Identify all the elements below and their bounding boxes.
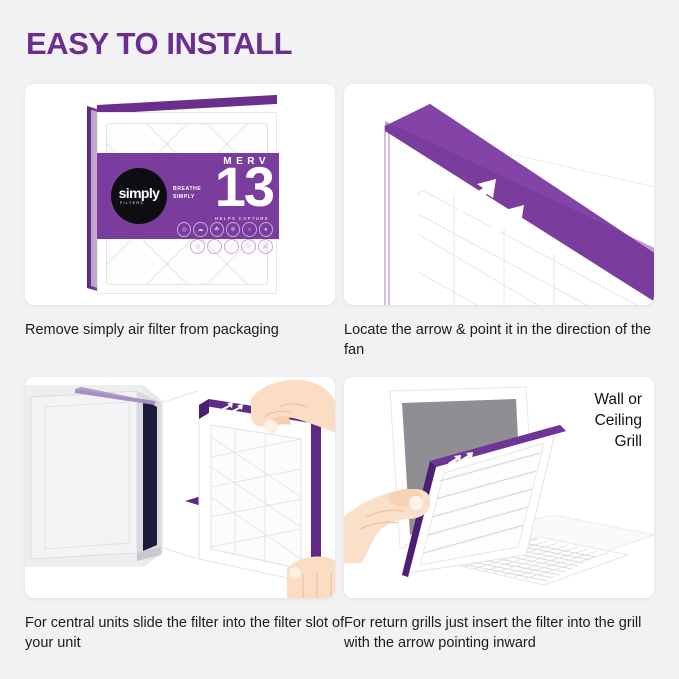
logo-subtext: FILTERS <box>120 201 144 205</box>
tagline-line-2: SIMPLY <box>173 194 201 202</box>
step-3-caption: For central units slide the filter into … <box>25 613 345 653</box>
package-front-face: simply FILTERS BREATHE SIMPLY MERV 13 HE… <box>97 112 277 294</box>
grill-label-line-2: Ceiling <box>594 410 642 431</box>
step-3-card <box>25 377 335 598</box>
smoke-icon: ☁ <box>193 222 207 237</box>
particle-icon: ▣ <box>258 239 273 254</box>
capture-icon-row-1: ◎ ☁ ☘ ❄ ☼ ● <box>177 222 273 237</box>
lint-icon: ♢ <box>207 239 222 254</box>
filter-package-illustration: simply FILTERS BREATHE SIMPLY MERV 13 HE… <box>87 106 277 296</box>
pollen-icon: ❄ <box>226 222 240 237</box>
dust-icon: ◍ <box>190 239 205 254</box>
helps-capture-label: HELPS CAPTURE <box>215 216 269 221</box>
mold-icon: ● <box>259 222 273 237</box>
allergen-icon: ⊘ <box>241 239 256 254</box>
grill-label-line-3: Grill <box>594 431 642 452</box>
pet-dander-icon: ☘ <box>210 222 224 237</box>
step-1-card: simply FILTERS BREATHE SIMPLY MERV 13 HE… <box>25 84 335 305</box>
page-title: EASY TO INSTALL <box>26 26 292 62</box>
step-2-card <box>344 84 654 305</box>
return-grill-illustration: Wall or Ceiling Grill <box>344 377 654 598</box>
filter-edge-illustration <box>344 84 654 305</box>
bacteria-icon: ☼ <box>242 222 256 237</box>
step-2-caption: Locate the arrow & point it in the direc… <box>344 320 664 360</box>
tagline-line-1: BREATHE <box>173 186 201 194</box>
spore-icon: ✓ <box>224 239 239 254</box>
virus-icon: ◎ <box>177 222 191 237</box>
capture-icon-grid: ◎ ☁ ☘ ❄ ☼ ● ◍ ♢ ✓ ⊘ <box>177 222 273 256</box>
package-tagline: BREATHE SIMPLY <box>173 186 201 201</box>
step-4-caption: For return grills just insert the filter… <box>344 613 664 653</box>
wall-ceiling-grill-label: Wall or Ceiling Grill <box>594 389 642 452</box>
package-purple-band: simply FILTERS BREATHE SIMPLY MERV 13 HE… <box>97 153 279 239</box>
step-1-caption: Remove simply air filter from packaging <box>25 320 345 340</box>
central-unit-illustration <box>25 377 335 598</box>
infographic-page: EASY TO INSTALL <box>0 0 679 679</box>
step-4-card: Wall or Ceiling Grill <box>344 377 654 598</box>
merv-rating: 13 <box>215 161 273 213</box>
capture-icon-row-2: ◍ ♢ ✓ ⊘ ▣ <box>177 239 273 254</box>
grill-label-line-1: Wall or <box>594 389 642 410</box>
simply-filters-logo: simply FILTERS <box>111 168 167 224</box>
logo-wordmark: simply <box>119 187 160 199</box>
